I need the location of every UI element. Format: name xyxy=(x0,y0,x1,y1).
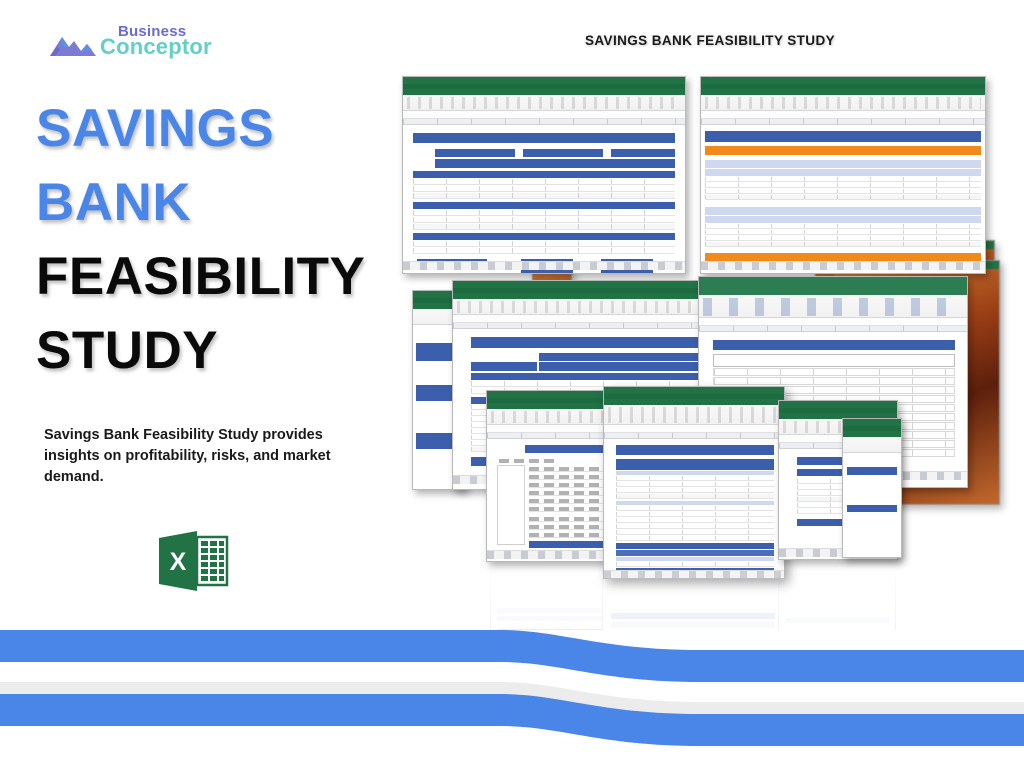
win-top-left[interactable] xyxy=(402,76,686,274)
brand-logo[interactable]: Business Conceptor xyxy=(48,24,248,68)
description-text: Savings Bank Feasibility Study provides … xyxy=(44,425,354,488)
win-top-right[interactable] xyxy=(700,76,986,274)
win-lower-right-back[interactable] xyxy=(842,418,902,558)
title-line-3: FEASIBILITY xyxy=(36,240,376,314)
wave-band-bottom xyxy=(0,694,1024,746)
header-title: SAVINGS BANK FEASIBILITY STUDY xyxy=(430,33,990,48)
excel-icon-letter: X xyxy=(170,548,187,576)
win-front-center[interactable] xyxy=(603,386,785,579)
brand-word-bottom: Conceptor xyxy=(100,37,212,57)
decorative-wave-band xyxy=(0,608,1024,768)
screenshot-collage xyxy=(390,68,1024,608)
title-line-1: SAVINGS xyxy=(36,92,376,166)
mountain-icon xyxy=(48,30,104,58)
wave-band-top xyxy=(0,630,1024,682)
slide-root: Business Conceptor SAVINGS BANK FEASIBIL… xyxy=(0,0,1024,768)
excel-file-icon: X xyxy=(157,528,229,594)
title-line-4: STUDY xyxy=(36,314,376,388)
title-line-2: BANK xyxy=(36,166,376,240)
brand-wordmark: Business Conceptor xyxy=(100,24,212,57)
page-title: SAVINGS BANK FEASIBILITY STUDY xyxy=(36,92,376,388)
